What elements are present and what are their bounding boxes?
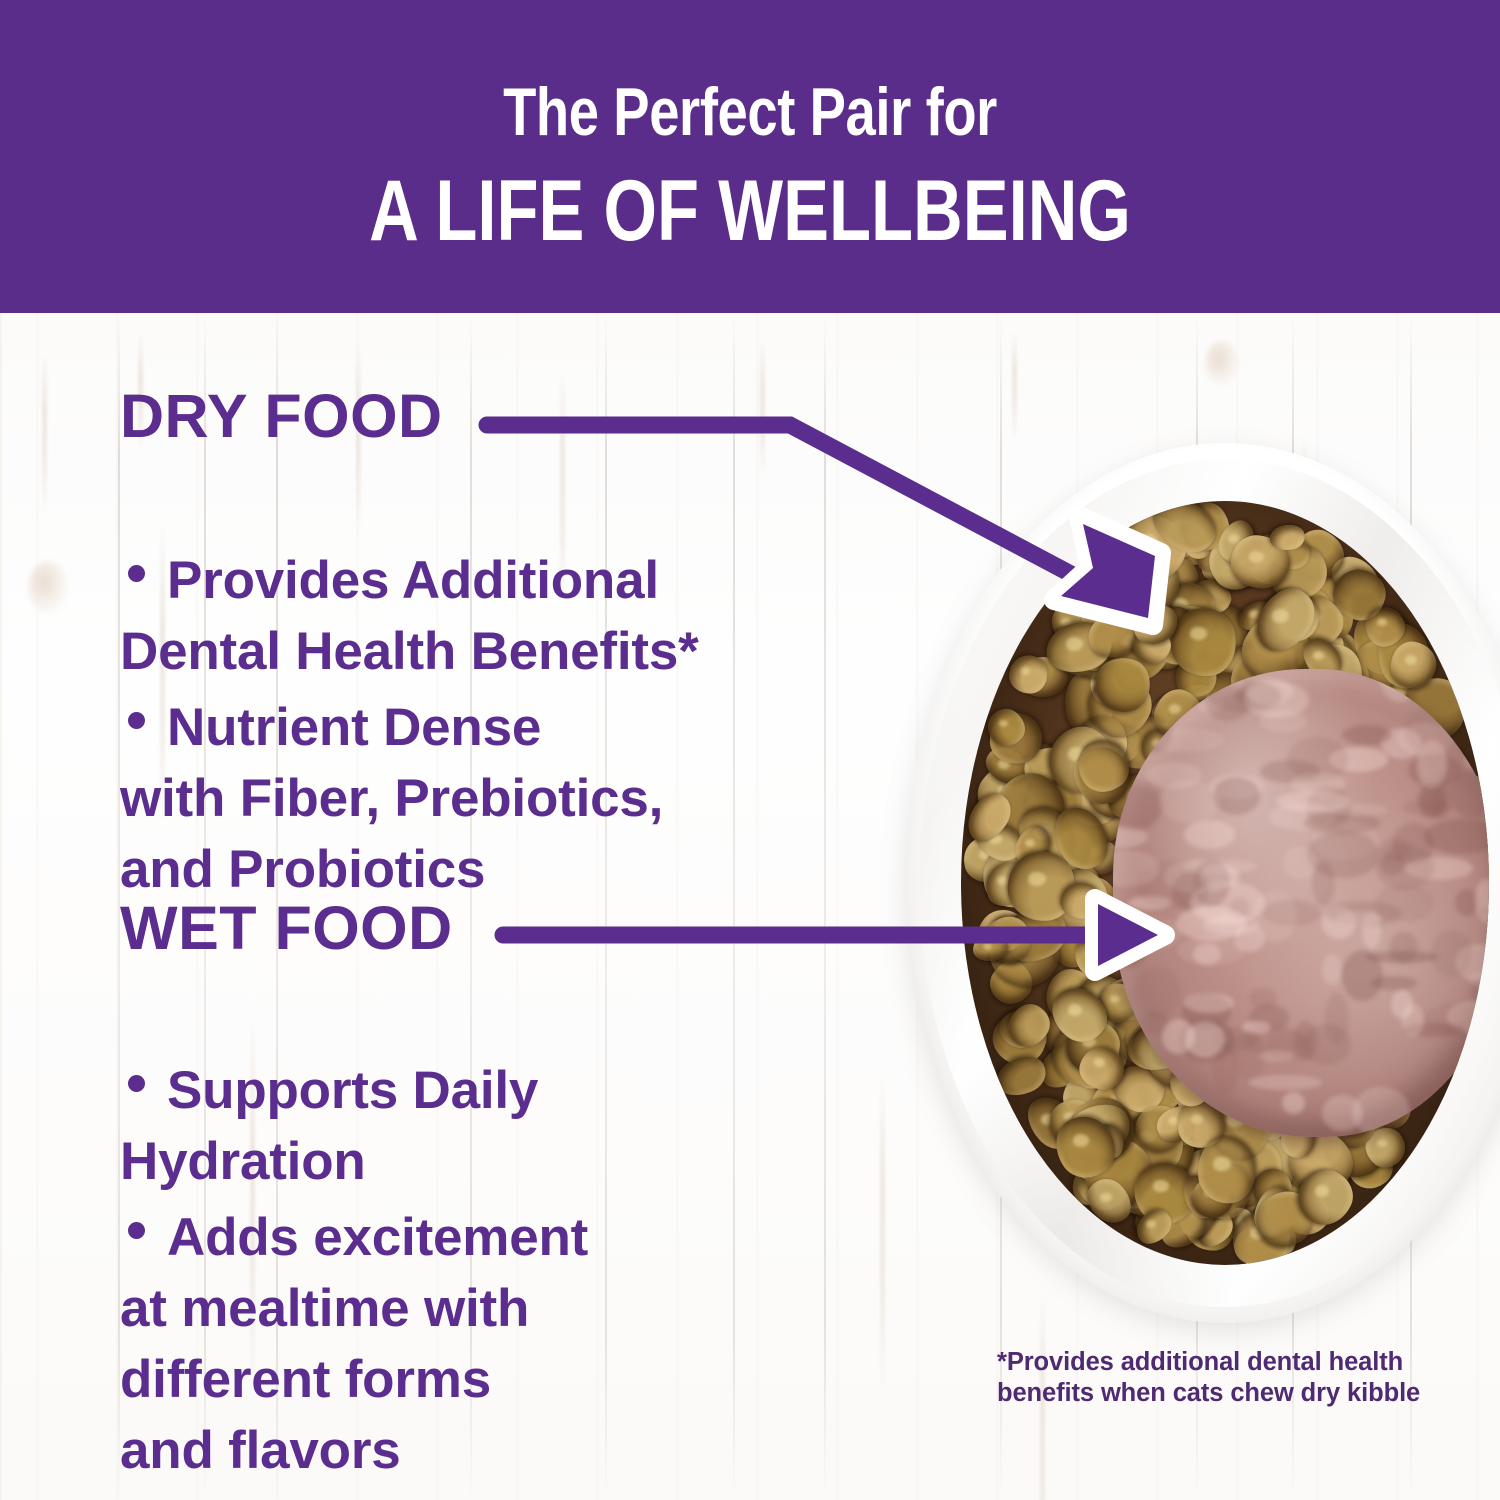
kibble-speckle — [1140, 534, 1157, 548]
pate-texture-blob — [1133, 967, 1181, 1018]
kibble-speckle — [1213, 1157, 1230, 1171]
pate-texture-blob — [1282, 1092, 1305, 1113]
kibble-speckle — [1094, 1058, 1105, 1067]
pate-texture-blob — [1460, 699, 1487, 739]
pate-texture-blob — [1325, 992, 1349, 1043]
kibble-speckle — [1272, 609, 1289, 623]
pate-texture-blob — [1376, 844, 1434, 889]
kibble-speckle — [1096, 571, 1111, 583]
bullet-dot-icon — [128, 565, 145, 582]
wet-food-pate — [1113, 669, 1489, 1137]
pate-texture-blob — [1403, 800, 1453, 814]
pate-texture-blob — [1322, 1095, 1363, 1131]
pate-texture-blob — [1249, 988, 1277, 1007]
kibble-speckle — [1405, 655, 1417, 664]
kibble-speckle — [1315, 1185, 1329, 1196]
kibble-speckle — [1377, 618, 1387, 626]
pate-texture-blob — [1113, 778, 1163, 830]
pate-texture-blob — [1290, 773, 1346, 793]
pate-texture-blob — [1391, 990, 1414, 1019]
wet-food-bullet-2: Adds excitement at mealtime with differe… — [120, 1131, 588, 1486]
kibble-speckle — [1066, 637, 1083, 651]
pate-texture-blob — [1294, 1021, 1317, 1060]
dry-food-heading: DRY FOOD — [120, 386, 443, 447]
kibble-speckle — [1146, 1220, 1156, 1228]
infographic-page: The Perfect Pair for A LIFE OF WELLBEING — [0, 0, 1500, 1500]
bullet-dot-icon — [128, 712, 145, 729]
pate-texture-blob — [1164, 859, 1234, 894]
pate-texture-blob — [1307, 831, 1380, 879]
dry-food-bullet-2: Nutrient Dense with Fiber, Prebiotics, a… — [120, 621, 663, 905]
pate-texture-blob — [1450, 769, 1489, 818]
kibble-speckle — [1169, 704, 1181, 714]
pate-texture-blob — [1151, 728, 1224, 752]
food-bowl-photo — [905, 443, 1500, 1333]
pate-texture-blob — [1162, 1019, 1194, 1054]
pate-texture-blob — [1475, 879, 1489, 923]
pate-texture-blob — [1283, 846, 1317, 879]
kibble-speckle — [1249, 610, 1259, 618]
wet-food-bullet-2-text: Adds excitement at mealtime with differe… — [120, 1208, 588, 1480]
pate-texture-blob — [1342, 950, 1383, 1001]
pate-texture-blob — [1322, 954, 1342, 985]
dry-food-bullet-2-text: Nutrient Dense with Fiber, Prebiotics, a… — [120, 698, 663, 899]
pate-texture-blob — [1424, 819, 1489, 853]
pate-texture-blob — [1213, 777, 1260, 815]
header-title-line-2: A LIFE OF WELLBEING — [150, 163, 1350, 259]
bullet-dot-icon — [128, 1075, 145, 1092]
pate-texture-blob — [1159, 780, 1220, 823]
kibble-piece — [1060, 883, 1101, 919]
pate-texture-blob — [1234, 925, 1264, 952]
kibble-speckle — [1249, 551, 1264, 563]
pate-texture-blob — [1469, 669, 1489, 698]
pate-texture-blob — [1232, 1031, 1266, 1078]
pate-texture-blob — [1326, 901, 1402, 926]
wet-food-heading: WET FOOD — [120, 898, 453, 959]
pate-texture-blob — [1114, 696, 1143, 727]
header-banner: The Perfect Pair for A LIFE OF WELLBEING — [0, 0, 1500, 313]
kibble-speckle — [983, 943, 992, 950]
bowl-interior — [961, 501, 1489, 1265]
pate-texture-blob — [1248, 1075, 1323, 1090]
pate-texture-blob — [1193, 943, 1221, 965]
bullet-dot-icon — [128, 1222, 145, 1239]
kibble-speckle — [1147, 616, 1159, 625]
pate-texture-blob — [1404, 706, 1457, 755]
pate-texture-blob — [1147, 1106, 1205, 1134]
pate-texture-blob — [1184, 993, 1234, 1013]
pate-texture-blob — [1184, 820, 1235, 849]
kibble-speckle — [1028, 872, 1045, 886]
kibble-speckle — [1153, 1180, 1169, 1193]
header-title-line-1: The Perfect Pair for — [150, 74, 1350, 150]
kibble-speckle — [1228, 534, 1239, 543]
footnote-text: *Provides additional dental health benef… — [997, 1347, 1477, 1409]
pate-texture-blob — [1431, 930, 1472, 976]
